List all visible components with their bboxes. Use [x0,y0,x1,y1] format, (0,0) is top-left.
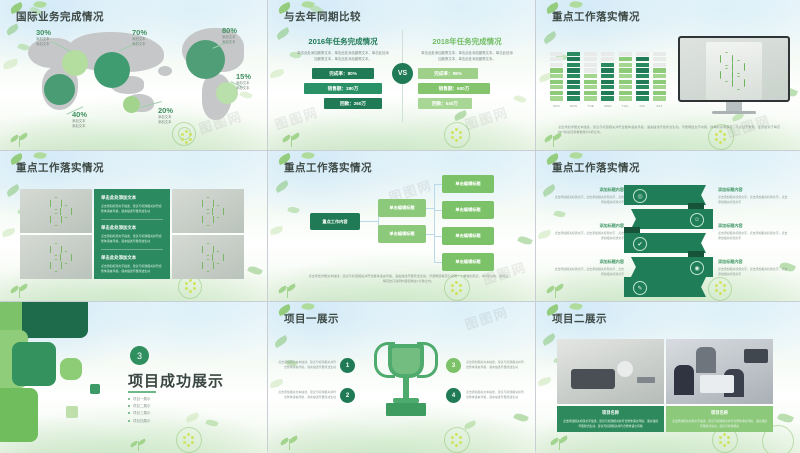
arrow-ribbon[interactable]: ☺ [631,209,713,229]
chart-segment [567,74,580,78]
project-photo[interactable] [666,339,773,404]
chart-segment [653,74,666,78]
chart-x-label: MON [567,104,580,108]
chart-segment [636,85,649,89]
chart-segment [601,91,614,95]
chart-segment [619,57,632,61]
chart-segment [550,52,563,56]
photo-thumbnail[interactable] [20,189,92,233]
chart-segment [653,68,666,72]
decor-square [60,358,82,380]
arrow-ribbon[interactable]: ◉ [631,257,713,277]
segment-column: SAT [653,40,666,108]
chart-segment [567,80,580,84]
map-bubble-africa[interactable] [44,74,75,105]
chart-segment [636,57,649,61]
compare-left-body: 单击此处添加副策文本，单击此处添加副策文本，单击此处添加副策文本，单击此处添加副… [294,51,392,62]
page-title: 重点工作落实情况 [552,9,640,24]
arrow-text-left: 添加标题内容点击添加相关标题文字，点击添加相关标题文字，点击添加相关标题文字 [552,223,624,241]
chart-segment [550,85,563,89]
chart-segment [619,68,632,72]
chart-segment [584,96,597,100]
arrow-ribbon[interactable]: ◎ [624,185,706,205]
map-bubble-oceania[interactable] [123,96,140,113]
chart-segment [567,63,580,67]
chart-segment [619,85,632,89]
slide-key-work-photos[interactable]: 重点工作落实情况 单击此处添加文本 点击添加标题文字描述，建议与标题相关并符合整… [0,151,267,301]
arrow-ribbon[interactable]: ✔ [624,233,706,253]
vs-badge: VS [392,63,413,84]
monitor-mockup [678,36,790,114]
chart-segment [636,80,649,84]
map-label-oceania: 20%添加文本添加文本 [158,106,173,124]
map-bubble-south-america[interactable] [216,82,238,104]
tree-mid-node[interactable]: 单击编辑标题 [378,225,426,243]
chart-x-label: FRI [636,104,649,108]
chart-segment [567,52,580,56]
chart-segment [636,52,649,56]
map-bubble-asia[interactable] [94,52,130,88]
decor-square [0,388,38,442]
decor-square [66,406,78,418]
point-text: 点击添加相关文本描述，建议与标题相关并符合整体语言风格，语言描述尽量简洁生动 [466,360,526,370]
photo-thumbnail[interactable] [172,189,244,233]
point-badge: 3 [446,358,461,373]
photo-thumbnail[interactable] [172,235,244,279]
page-title: 重点工作落实情况 [16,160,104,175]
project-photo[interactable] [557,339,664,404]
leaf-icon [301,302,315,312]
arrow-text-right: 添加标题内容点击添加相关标题文字，点击添加相关标题文字，点击添加相关标题文字 [718,223,790,241]
page-title: 项目一展示 [284,311,339,326]
panel-heading: 单击此处添加文本 [101,225,163,231]
panel-body: 点击添加标题文字描述，建议与标题相关并符合整体语言风格，语言描述尽量简洁生动 [101,264,163,274]
compare-bar: 完成率：80% [312,68,374,79]
photo-thumbnail[interactable] [20,235,92,279]
slide-project-two[interactable]: 项目二展示 项目名称点击添加相关标题文字描述，建议与标题相关并符合整体语言风格，… [536,302,800,453]
chart-segment [636,63,649,67]
arrow-ribbon[interactable]: ✎ [624,277,706,297]
segment-column: THU [619,40,632,108]
map-label-africa: 40%添加文本添加文本 [72,110,87,128]
chart-x-label: TUE [584,104,597,108]
chart-segment [601,85,614,89]
tree-root-node[interactable]: 重点工作内容 [310,213,360,230]
leaf-icon [569,302,583,312]
chart-segment [550,57,563,61]
chart-segment [567,57,580,61]
chart-segment [567,85,580,89]
footer-note: 点击添加详细文本描述，建议与标题相关并符合整体语言风格，语言描述尽量简洁生动。尽… [558,125,780,136]
page-title: 重点工作落实情况 [284,160,372,175]
target-icon: ◎ [633,189,647,203]
chart-segment [584,74,597,78]
world-map-graphic: 30%添加文本添加文本 70%添加文本添加文本 80%添加文本添加文本 15%添… [6,22,261,127]
chart-segment [567,91,580,95]
leaf-icon [33,151,47,161]
chart-segment [653,52,666,56]
chart-segment [584,80,597,84]
pen-icon: ✎ [633,281,647,295]
page-title: 项目二展示 [552,311,607,326]
chart-x-label: THU [619,104,632,108]
slide-project-one[interactable]: 图图网 项目一展示 1 2 3 4 点击添加相关文本描述，建议与标题相关并符合整… [268,302,535,453]
chart-segment [636,74,649,78]
compare-bar: 销售额：380万 [304,83,382,94]
page-title: 与去年同期比较 [284,9,361,24]
point-text: 点击添加相关文本描述，建议与标题相关并符合整体语言风格，语言描述尽量简洁生动 [276,360,336,370]
chart-segment [653,63,666,67]
decor-square [12,342,56,386]
chart-segment [584,68,597,72]
leaf-icon [33,0,47,10]
compare-right: 2018年任务完成情况 单击此处添加副策文本，单击此处添加副策文本，单击此处添加… [418,36,516,113]
chart-segment [584,63,597,67]
panel-body: 点击添加标题文字描述，建议与标题相关并符合整体语言风格，语言描述尽量简洁生动 [101,204,163,214]
chart-segment [619,74,632,78]
map-label-north-america: 80%添加文本添加文本 [222,26,237,44]
chart-segment [653,91,666,95]
arrow-text-left: 添加标题内容点击添加相关标题文字，点击添加相关标题文字，点击添加相关标题文字 [552,259,624,277]
tree-leaf-node[interactable]: 单击编辑标题 [442,201,494,219]
chart-segment [601,68,614,72]
chart-segment [653,96,666,100]
tree-leaf-node[interactable]: 单击编辑标题 [442,253,494,271]
segment-column: SUN [550,40,563,108]
chart-segment [636,96,649,100]
chart-segment [619,80,632,84]
chart-segment [636,68,649,72]
map-label-south-america: 15%添加文本添加文本 [236,72,251,90]
segment-bar-chart: SUNMONTUEWEDTHUFRISAT [550,40,666,108]
arrow-text-right: 添加标题内容点击添加相关标题文字，点击添加相关标题文字，点击添加相关标题文字 [718,187,790,205]
check-icon: ✔ [633,237,647,251]
monitor-screen [678,36,790,102]
page-title: 国际业务完成情况 [16,9,104,24]
chart-segment [550,80,563,84]
trophy-graphic [376,336,436,432]
chart-segment [601,63,614,67]
chart-segment [601,57,614,61]
chart-segment [550,91,563,95]
slide-deck: 图图网 国际业务完成情况 [0,0,800,451]
chart-segment [584,57,597,61]
compare-left-heading: 2016年任务完成情况 [294,36,392,47]
panel-heading: 单击此处添加文本 [101,255,163,261]
slide-key-work-chart[interactable]: 图图网 重点工作落实情况 SUNMONTUEWEDTHUFRISAT 点击添加详… [536,0,800,150]
tree-leaf-node[interactable]: 单击编辑标题 [442,227,494,245]
compare-bar: 回款：540万 [418,98,472,109]
chart-segment [584,85,597,89]
chart-segment [584,91,597,95]
chart-x-label: SUN [550,104,563,108]
section-number: 3 [130,346,149,365]
slide-key-work-arrows[interactable]: 重点工作落实情况 ◎ ☺ ✔ ◉ ✎ 添加标题内容点击添加相关标题文字，点击添加… [536,151,800,301]
chart-segment [601,80,614,84]
compare-bar: 销售额：600万 [418,83,490,94]
chart-segment [601,74,614,78]
chart-segment [550,96,563,100]
segment-column: WED [601,40,614,108]
chart-segment [601,96,614,100]
leaf-icon [301,151,315,161]
map-label-europe: 30%添加文本添加文本 [36,28,51,46]
slide-key-work-tree[interactable]: 图图网 图图网 重点工作落实情况 重点工作内容 单击编辑标题 单击编辑标题 单击… [268,151,535,301]
chart-x-label: WED [601,104,614,108]
chart-segment [567,96,580,100]
segment-column: MON [567,40,580,108]
segment-column: TUE [584,40,597,108]
decor-square [90,384,100,394]
leaf-icon [569,0,583,10]
leaf-icon [569,151,583,161]
at-icon: ◉ [690,261,704,275]
point-badge: 4 [446,388,461,403]
arrow-text-right: 添加标题内容点击添加相关标题文字，点击添加相关标题文字，点击添加相关标题文字 [718,259,790,277]
tree-mid-node[interactable]: 单击编辑标题 [378,199,426,217]
project-caption: 项目名称点击添加相关标题文字描述，建议与标题相关并符合整体语言风格，语言描述尽量… [557,406,664,432]
smile-icon: ☺ [690,213,704,227]
point-text: 点击添加相关文本描述，建议与标题相关并符合整体语言风格，语言描述尽量简洁生动 [276,390,336,400]
chart-segment [653,57,666,61]
chart-x-label: SAT [653,104,666,108]
panel-body: 点击添加标题文字描述，建议与标题相关并符合整体语言风格，语言描述尽量简洁生动 [101,234,163,244]
panel-heading: 单击此处添加文本 [101,195,163,201]
chart-segment [636,91,649,95]
chart-segment [619,91,632,95]
slide-section-cover[interactable]: 3 项目成功展示 项目一展示 项目二展示 项目三展示 项目四展示 [0,302,267,453]
page-title: 重点工作落实情况 [552,160,640,175]
compare-bar: 完成率：98% [418,68,478,79]
chart-segment [619,96,632,100]
point-badge: 1 [340,358,355,373]
compare-bar: 回款：260万 [324,98,382,109]
section-bullets: 项目一展示 项目二展示 项目三展示 项目四展示 [128,396,151,425]
compare-left: 2016年任务完成情况 单击此处添加副策文本，单击此处添加副策文本，单击此处添加… [294,36,392,113]
map-label-asia: 70%添加文本添加文本 [132,28,147,46]
chart-segment [550,68,563,72]
slide-year-compare[interactable]: 图图网 图图网 与去年同期比较 VS 2016年任务完成情况 单击此处添加副策文… [268,0,535,150]
point-text: 点击添加相关文本描述，建议与标题相关并符合整体语言风格，语言描述尽量简洁生动 [466,390,526,400]
chart-segment [584,52,597,56]
segment-column: FRI [636,40,649,108]
project-caption: 项目名称点击添加相关标题文字描述，建议与标题相关并符合整体语言风格，语言描述尽量… [666,406,773,432]
tree-leaf-node[interactable]: 单击编辑标题 [442,175,494,193]
chart-segment [619,52,632,56]
chart-segment [550,63,563,67]
chart-segment [567,68,580,72]
chart-segment [619,63,632,67]
decor-square [22,302,88,338]
chart-segment [653,85,666,89]
compare-right-body: 单击此处添加副策文本，单击此处添加副策文本，单击此处添加副策文本，单击此处添加副… [418,51,516,62]
title-underline [128,391,156,393]
chart-segment [653,80,666,84]
text-panel: 单击此处添加文本 点击添加标题文字描述，建议与标题相关并符合整体语言风格，语言描… [94,189,170,279]
leaf-icon [301,0,315,10]
chart-segment [601,52,614,56]
map-bubble-europe[interactable] [62,50,88,76]
footer-note: 点击添加详细文本描述，建议与标题相关并符合整体语言风格，语言描述尽量简洁生动。尽… [308,274,509,285]
compare-right-heading: 2018年任务完成情况 [418,36,516,47]
section-title: 项目成功展示 [128,370,224,391]
chart-segment [550,74,563,78]
point-badge: 2 [340,388,355,403]
slide-world-map[interactable]: 图图网 国际业务完成情况 [0,0,267,150]
arrow-text-left: 添加标题内容点击添加相关标题文字，点击添加相关标题文字，点击添加相关标题文字 [552,187,624,205]
